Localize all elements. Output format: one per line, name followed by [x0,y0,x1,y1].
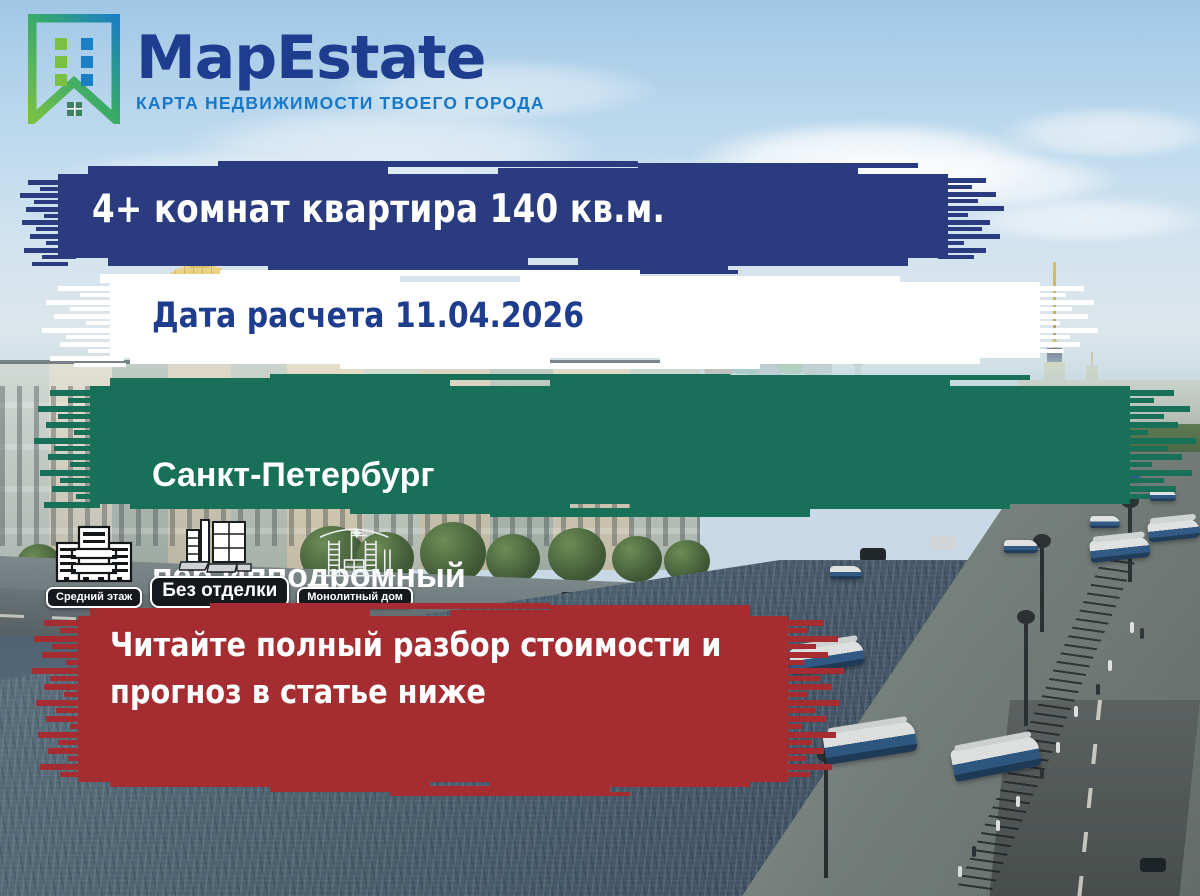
construction-crane-icon [313,521,397,585]
property-promo-poster: MapEstate КАРТА НЕДВИЖИМОСТИ ТВОЕГО ГОРО… [0,0,1200,896]
brand-tagline: КАРТА НЕДВИЖИМОСТИ ТВОЕГО ГОРОДА [136,95,545,113]
bare-interior-icon [179,512,261,574]
brand-logo[interactable]: MapEstate КАРТА НЕДВИЖИМОСТИ ТВОЕГО ГОРО… [28,14,545,124]
date-banner-text: Дата расчета 11.04.2026 [152,296,584,336]
feature-badges: Средний этаж Без отделки [46,512,413,608]
feature-badge-floor[interactable]: Средний этаж [46,521,142,608]
brand-name: MapEstate [136,28,545,88]
rooms-banner-text: 4+ комнат квартира 140 кв.м. [92,187,665,232]
feature-badge-finish[interactable]: Без отделки [150,512,289,608]
bookmark-building-icon [28,14,120,124]
cta-banner-text: Читайте полный разбор стоимости и прогно… [110,622,731,716]
apartment-building-icon [52,521,136,585]
feature-badge-construction[interactable]: Монолитный дом [297,521,413,608]
location-city: Санкт-Петербург [152,450,466,500]
